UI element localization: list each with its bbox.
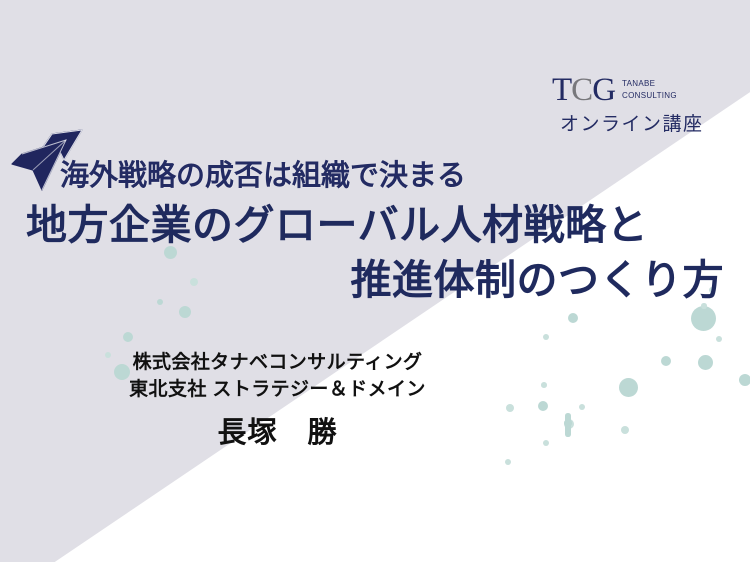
title-line-2: 推進体制のつくり方 xyxy=(0,253,736,308)
presenter-department: 東北支社 ストラテジー＆ドメイン xyxy=(0,377,555,404)
tcg-wordmark: TCG xyxy=(552,75,615,106)
title-line-1: 地方企業のグローバル人材戦略と xyxy=(0,198,736,253)
logo-letter-c: C xyxy=(571,72,592,108)
tcg-logo: TCG TANABE CONSULTING オンライン講座 xyxy=(552,75,704,136)
logo-word-tanabe: TANABE xyxy=(622,78,677,90)
decorative-dot xyxy=(661,356,671,366)
presenter-organization: 株式会社タナベコンサルティング xyxy=(0,350,555,377)
decorative-dot xyxy=(565,431,570,436)
decorative-dot xyxy=(123,332,133,342)
logo-subtitle-online-course: オンライン講座 xyxy=(560,109,704,136)
logo-company-words: TANABE CONSULTING xyxy=(622,75,677,101)
title-slide: TCG TANABE CONSULTING オンライン講座 海外戦略の成否は組織… xyxy=(0,0,750,562)
presenter-name: 長塚 勝 xyxy=(0,409,555,451)
slide-title: 地方企業のグローバル人材戦略と 推進体制のつくり方 xyxy=(0,198,736,308)
decorative-dot xyxy=(619,378,638,397)
decorative-dot xyxy=(568,313,578,323)
slide-subtitle: 海外戦略の成否は組織で決まる xyxy=(60,152,466,194)
logo-word-consulting: CONSULTING xyxy=(622,90,677,102)
decorative-dot xyxy=(691,306,716,331)
decorative-dot xyxy=(505,459,511,465)
logo-letter-g: G xyxy=(592,72,615,108)
presenter-block: 株式会社タナベコンサルティング 東北支社 ストラテジー＆ドメイン 長塚 勝 xyxy=(0,350,555,451)
decorative-dot xyxy=(565,413,570,418)
decorative-dot xyxy=(579,404,585,410)
decorative-dot xyxy=(739,374,750,386)
decorative-dot xyxy=(698,355,713,370)
logo-letter-t: T xyxy=(552,72,571,108)
logo-row: TCG TANABE CONSULTING xyxy=(552,75,704,106)
decorative-dot xyxy=(621,426,629,434)
